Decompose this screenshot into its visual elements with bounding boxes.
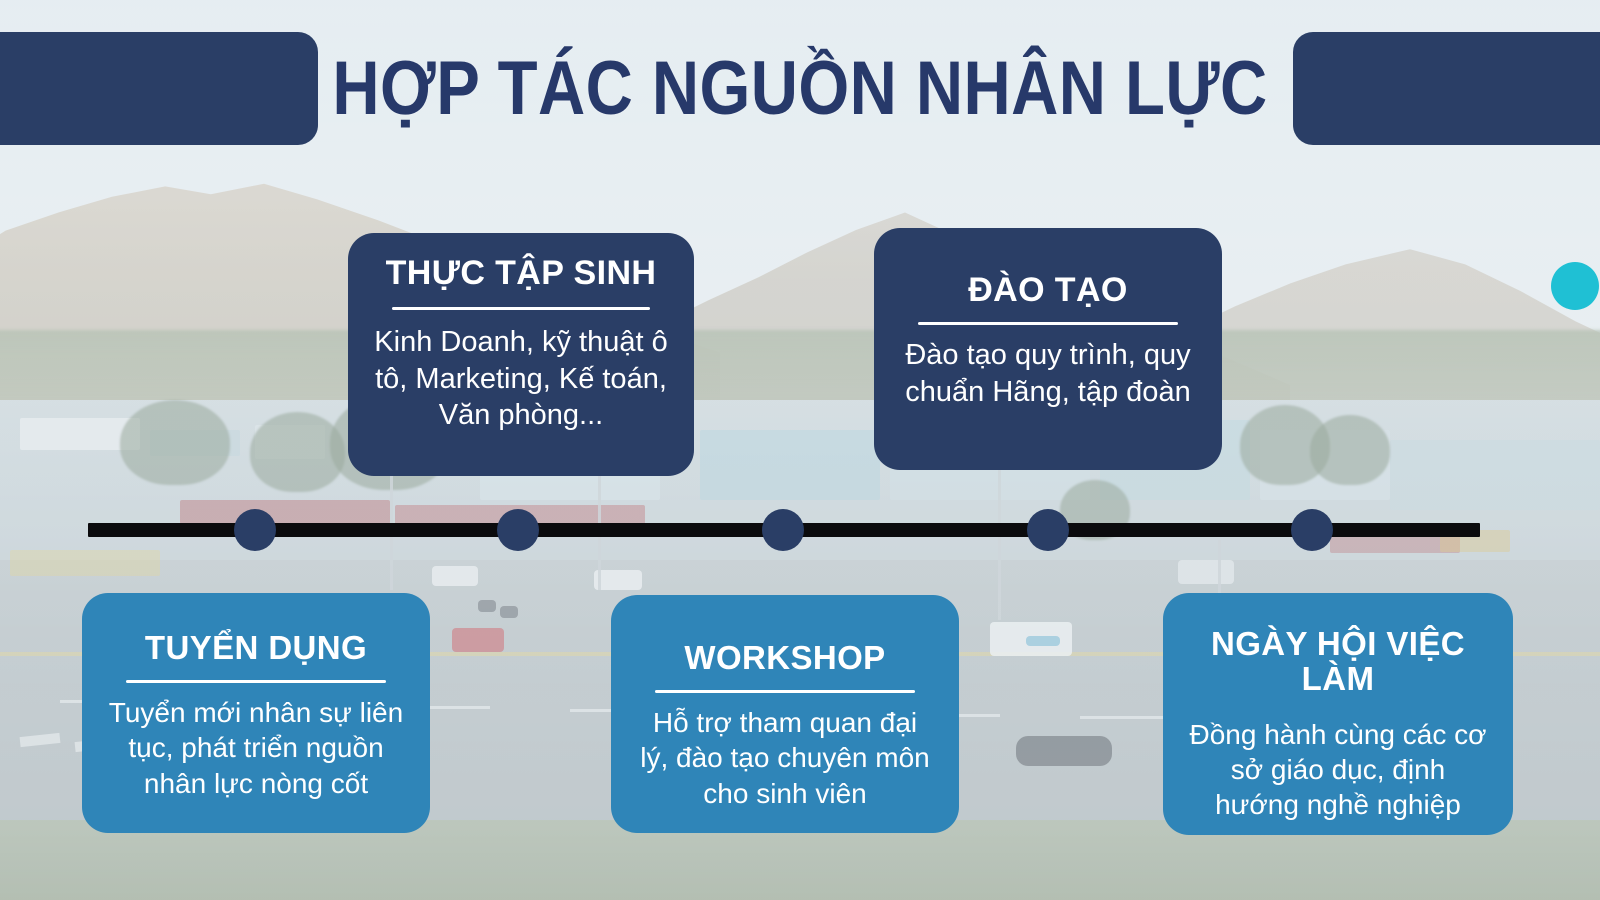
card-internship-divider: [392, 307, 651, 310]
card-recruitment-body: Tuyển mới nhân sự liên tục, phát triển n…: [108, 695, 404, 801]
timeline-dot-5[interactable]: [1291, 509, 1333, 551]
timeline-dot-2[interactable]: [497, 509, 539, 551]
card-training-divider: [918, 322, 1178, 325]
card-recruitment-divider: [126, 680, 386, 683]
card-training-body: Đào tạo quy trình, quy chuẩn Hãng, tập đ…: [900, 337, 1196, 410]
card-jobfair[interactable]: NGÀY HỘI VIỆC LÀM Đồng hành cùng các cơ …: [1163, 593, 1513, 835]
card-internship[interactable]: THỰC TẬP SINH Kinh Doanh, kỹ thuật ô tô,…: [348, 233, 694, 476]
teal-accent-dot: [1551, 262, 1599, 310]
card-jobfair-title: NGÀY HỘI VIỆC LÀM: [1189, 627, 1487, 697]
page-title: HỢP TÁC NGUỒN NHÂN LỰC: [112, 32, 1488, 145]
timeline-dot-4[interactable]: [1027, 509, 1069, 551]
card-workshop-title: WORKSHOP: [684, 641, 885, 676]
timeline-dot-3[interactable]: [762, 509, 804, 551]
slide-canvas: HỢP TÁC NGUỒN NHÂN LỰC THỰC TẬP SINH Kin…: [0, 0, 1600, 900]
card-training-title: ĐÀO TẠO: [968, 272, 1128, 308]
title-banner: HỢP TÁC NGUỒN NHÂN LỰC: [0, 32, 1600, 145]
card-recruitment-title: TUYỂN DỤNG: [145, 631, 367, 666]
card-jobfair-body: Đồng hành cùng các cơ sở giáo dục, định …: [1189, 717, 1487, 823]
card-training[interactable]: ĐÀO TẠO Đào tạo quy trình, quy chuẩn Hãn…: [874, 228, 1222, 470]
card-workshop[interactable]: WORKSHOP Hỗ trợ tham quan đại lý, đào tạ…: [611, 595, 959, 833]
timeline-dot-1[interactable]: [234, 509, 276, 551]
card-recruitment[interactable]: TUYỂN DỤNG Tuyển mới nhân sự liên tục, p…: [82, 593, 430, 833]
card-workshop-body: Hỗ trợ tham quan đại lý, đào tạo chuyên …: [637, 705, 933, 811]
card-internship-body: Kinh Doanh, kỹ thuật ô tô, Marketing, Kế…: [374, 324, 668, 434]
card-workshop-divider: [655, 690, 915, 693]
card-internship-title: THỰC TẬP SINH: [386, 255, 657, 291]
